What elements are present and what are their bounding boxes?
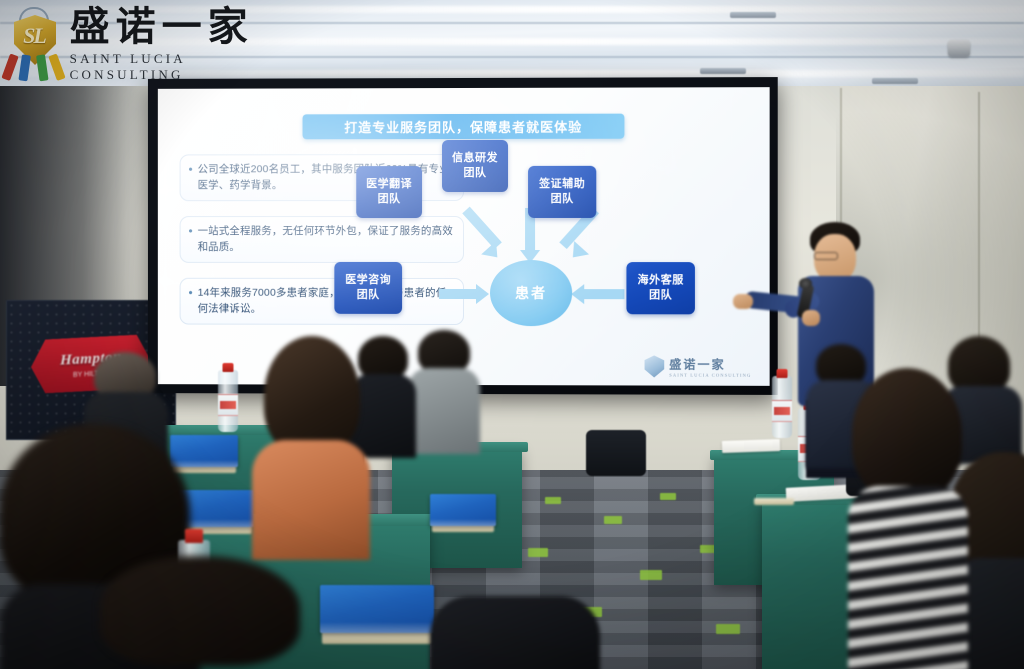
ceiling-vent-icon	[730, 12, 776, 18]
slide-bullet-3: • 14年来服务7000多患者家庭，从未发生过与患者的任何法律诉讼。	[180, 278, 464, 325]
water-bottle	[218, 370, 238, 432]
arrow-head-upper-left	[481, 241, 505, 264]
diagram-node-top: 信息研发 团队	[442, 140, 508, 192]
audience-hair	[264, 336, 360, 456]
node-label-line1: 医学翻译	[366, 177, 412, 192]
watermark-en: SAINT LUCIA CONSULTING	[669, 373, 751, 378]
slide-title-banner: 打造专业服务团队，保障患者就医体验	[303, 114, 625, 140]
brand-text: 盛诺一家 SAINT LUCIA CONSULTING	[70, 3, 304, 83]
audience-hair	[100, 556, 300, 666]
arrow-head-right	[571, 284, 584, 304]
ribbon-red-icon	[1, 53, 18, 81]
carpet-accent	[545, 497, 561, 504]
node-label-line2: 团队	[357, 288, 380, 303]
diagram-node-right: 海外客服 团队	[626, 262, 694, 314]
placard-base	[754, 498, 794, 505]
node-label-line1: 医学咨询	[345, 273, 391, 288]
carpet-accent	[716, 624, 740, 634]
ceiling-vent-icon	[700, 68, 746, 74]
diagram-node-upper-left: 医学翻译 团队	[356, 166, 422, 218]
saint-lucia-shield-icon: SL	[8, 7, 60, 79]
bullet-text: 14年来服务7000多患者家庭，从未发生过与患者的任何法律诉讼。	[198, 286, 453, 317]
arrow-left	[439, 289, 479, 299]
bottle-label	[218, 394, 238, 416]
conference-presentation-photo: Hampton BY HILTON 打造专业服务团队，保障患者就医体验 • 公司…	[0, 0, 1024, 669]
carpet-accent	[640, 570, 662, 580]
arrow-right	[584, 289, 624, 299]
brand-overlay: SL 盛诺一家 SAINT LUCIA CONSULTING	[4, 0, 304, 86]
node-label-line1: 签证辅助	[539, 177, 585, 192]
bottle-cap	[223, 363, 234, 372]
audience-member-foreground	[430, 596, 600, 669]
ribbon-blue-icon	[18, 54, 31, 81]
name-placard-front	[320, 585, 434, 633]
slide-bullet-2: • 一站式全程服务，无任何环节外包，保证了服务的高效和品质。	[180, 216, 464, 263]
audience-torso	[252, 440, 370, 560]
chair	[586, 430, 646, 476]
arrow-head-left	[476, 284, 489, 304]
center-label: 患者	[515, 283, 547, 303]
node-label-line2: 团队	[551, 192, 574, 207]
node-label-line1: 信息研发	[452, 151, 498, 166]
audience-hair	[852, 368, 962, 500]
node-label-line2: 团队	[463, 166, 486, 181]
ribbon-yellow-icon	[48, 53, 65, 81]
audience-torso	[408, 368, 480, 454]
diagram-node-upper-right: 签证辅助 团队	[528, 166, 596, 218]
presenter-hand	[733, 294, 753, 309]
diamond-shield-icon	[644, 355, 664, 377]
bottle-cap	[185, 529, 203, 543]
audience-member-foreground	[252, 336, 370, 556]
sprinkler-icon	[948, 40, 970, 57]
presenter-mic-hand	[802, 310, 820, 326]
brand-name-cn: 盛诺一家	[70, 7, 304, 47]
microphone-head-icon	[799, 278, 812, 289]
slide-watermark-logo: 盛诺一家 SAINT LUCIA CONSULTING	[644, 355, 751, 377]
diagram-center-patient: 患者	[490, 260, 572, 326]
shield-monogram: SL	[8, 23, 60, 49]
node-label-line1: 海外客服	[638, 273, 684, 288]
glasses-icon	[814, 252, 838, 260]
ribbon-green-icon	[36, 54, 49, 81]
audience-member-foreground	[100, 556, 330, 669]
carpet-accent	[604, 516, 622, 524]
watermark-cn: 盛诺一家	[669, 355, 751, 372]
bullet-dot-icon: •	[188, 162, 192, 193]
bullet-dot-icon: •	[188, 224, 192, 255]
bullet-text: 一站式全程服务，无任何环节外包，保证了服务的高效和品质。	[198, 224, 453, 255]
audience-torso	[430, 596, 600, 669]
brand-name-en: SAINT LUCIA CONSULTING	[70, 51, 304, 83]
diagram-node-left: 医学咨询 团队	[334, 262, 402, 314]
carpet-accent	[528, 548, 548, 557]
audience-member-foreground	[848, 368, 968, 669]
bullet-dot-icon: •	[188, 286, 192, 317]
audience-torso-striped	[848, 486, 968, 669]
carpet-accent	[660, 493, 676, 500]
audience-member	[408, 330, 480, 450]
node-label-line2: 团队	[378, 192, 401, 207]
ceiling-vent-icon	[872, 78, 918, 84]
node-label-line2: 团队	[649, 288, 672, 303]
name-placard	[430, 494, 496, 526]
